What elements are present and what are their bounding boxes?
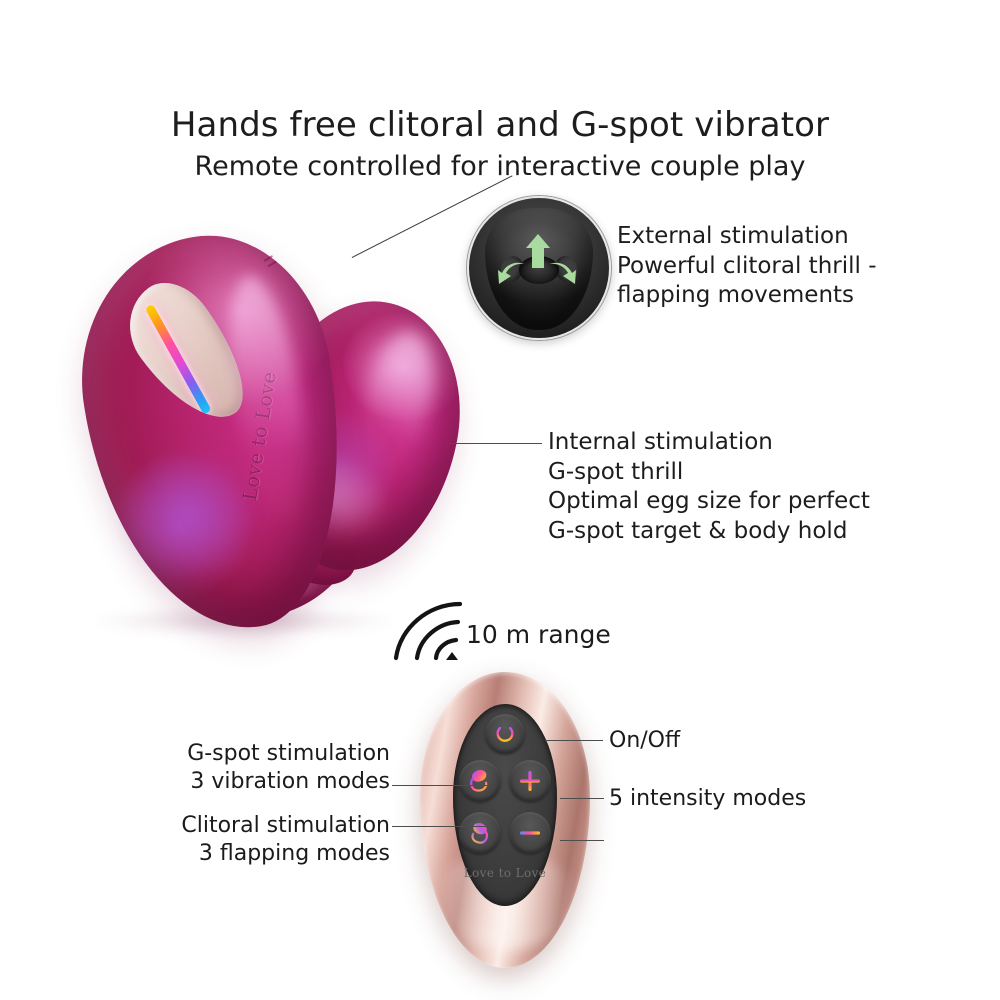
page-title: Hands free clitoral and G-spot vibrator [0, 105, 1000, 145]
clitoral-mode-icon [467, 820, 493, 846]
leader-line-intensity-plus [560, 798, 604, 799]
callout-external-stimulation: External stimulation Powerful clitoral t… [617, 222, 917, 311]
page-subtitle: Remote controlled for interactive couple… [0, 150, 1000, 183]
gspot-mode-button[interactable] [459, 760, 501, 802]
product-brand-text: Love to Love [239, 370, 281, 502]
plus-icon [518, 769, 542, 793]
callout-intensity-modes: 5 intensity modes [609, 785, 806, 813]
callout-internal-stimulation: Internal stimulation G-spot thrill Optim… [548, 428, 888, 546]
range-label: 10 m range [466, 620, 611, 650]
product-illustration: Love to Love [60, 228, 480, 653]
intensity-down-button[interactable] [509, 812, 551, 854]
gspot-mode-icon [467, 768, 493, 794]
callout-clitoral-modes: Clitoral stimulation 3 flapping modes [140, 812, 390, 868]
signal-waves-icon [392, 600, 464, 662]
infographic-canvas: Hands free clitoral and G-spot vibrator … [0, 0, 1000, 1000]
minus-icon [518, 821, 542, 845]
control-panel-inset [110, 268, 266, 439]
leader-line-intensity-minus [560, 840, 604, 841]
remote-face: Love to Love [453, 704, 557, 906]
power-icon [494, 723, 516, 745]
remote-control: Love to Love [420, 672, 590, 968]
vent-mark-1 [263, 255, 273, 262]
arrow-down-right-icon [547, 262, 577, 292]
leader-line-internal [446, 443, 542, 444]
vent-mark-2 [267, 261, 277, 268]
clitoral-mode-button[interactable] [459, 812, 501, 854]
power-button[interactable] [485, 714, 525, 754]
magnified-clitoral-head [467, 196, 611, 340]
intensity-up-button[interactable] [509, 760, 551, 802]
arrow-down-left-icon [497, 262, 527, 292]
leader-line-clitoral [392, 826, 490, 827]
leader-line-gspot [392, 785, 490, 786]
remote-brand-text: Love to Love [453, 866, 557, 880]
callout-gspot-modes: G-spot stimulation 3 vibration modes [140, 740, 390, 796]
callout-onoff: On/Off [609, 727, 680, 755]
led-indicator-strip [144, 304, 211, 415]
leader-line-onoff [545, 740, 603, 741]
